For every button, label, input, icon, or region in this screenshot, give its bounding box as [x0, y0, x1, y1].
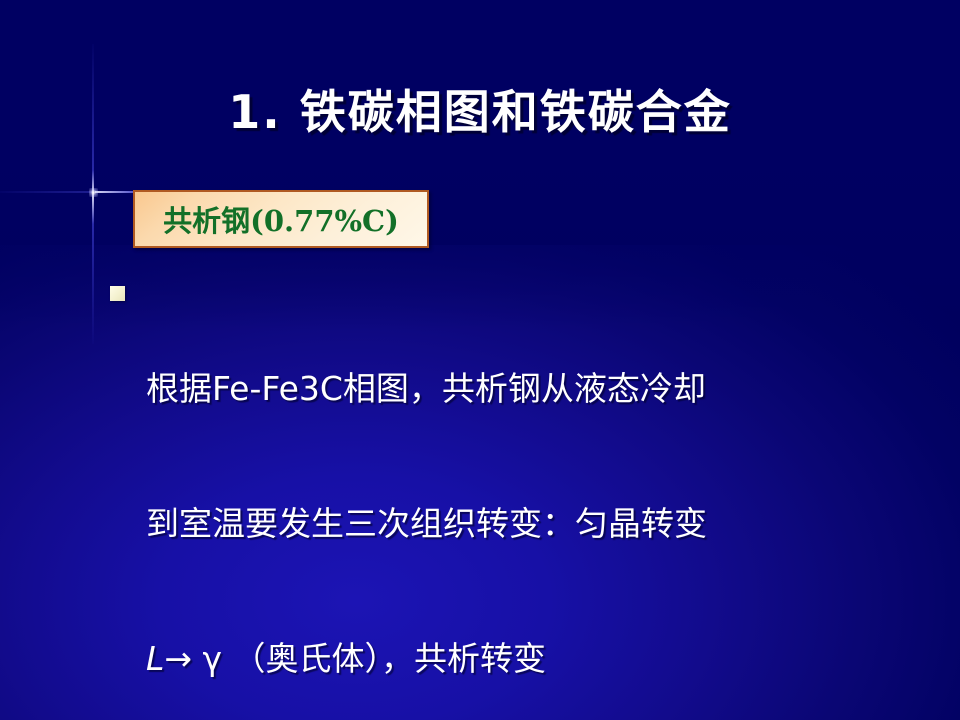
presentation-slide: 1. 铁碳相图和铁碳合金 共析钢(0.77%C) 根据Fe-Fe3C相图，共析钢… [0, 0, 960, 720]
body-paragraph: 根据Fe-Fe3C相图，共析钢从液态冷却 到室温要发生三次组织转变：匀晶转变 L… [108, 276, 948, 720]
composition-label-plate: 共析钢(0.77%C) [133, 190, 429, 248]
body-line-1: 根据Fe-Fe3C相图，共析钢从液态冷却 [146, 366, 948, 411]
symbol-liquid-phase: L [146, 639, 164, 678]
square-bullet-icon [110, 286, 125, 301]
composition-label-text: 共析钢(0.77%C) [163, 198, 399, 240]
crosshair-center-glow [89, 188, 98, 197]
body-line-2: 到室温要发生三次组织转变：匀晶转变 [146, 501, 948, 546]
slide-title: 1. 铁碳相图和铁碳合金 [0, 76, 960, 142]
body-line-3-rest: → γ （奥氏体），共析转变 [164, 639, 546, 678]
bullet-list-item: 根据Fe-Fe3C相图，共析钢从液态冷却 到室温要发生三次组织转变：匀晶转变 L… [108, 276, 948, 720]
body-line-3: L→ γ （奥氏体），共析转变 [146, 636, 948, 681]
body-content-block: 根据Fe-Fe3C相图，共析钢从液态冷却 到室温要发生三次组织转变：匀晶转变 L… [108, 276, 948, 720]
